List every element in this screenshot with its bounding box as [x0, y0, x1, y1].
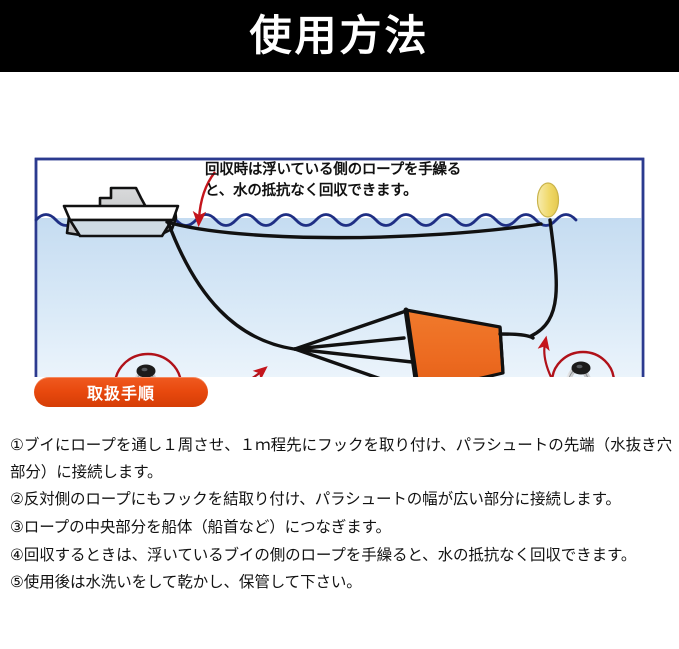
- callout-line-1: 回収時は浮いている側のロープを手繰る: [205, 160, 515, 181]
- diagram-canvas: [0, 72, 679, 377]
- step-item-5: ⑤使用後は水洗いをして乾かし、保管して下さい。: [10, 569, 672, 596]
- diagram-callout-text: 回収時は浮いている側のロープを手繰る と、水の抵抗なく回収できます。: [205, 160, 515, 202]
- section-badge-row: 取扱手順: [0, 377, 679, 419]
- buoy-icon: [538, 183, 559, 217]
- page-title: 使用方法: [249, 15, 429, 57]
- step-item-3: ③ロープの中央部分を船体（船首など）につなぎます。: [10, 514, 672, 541]
- procedure-badge: 取扱手順: [34, 377, 208, 407]
- step-item-2: ②反対側のロープにもフックを結取り付け、パラシュートの幅が広い部分に接続します。: [10, 486, 672, 513]
- callout-line-2: と、水の抵抗なく回収できます。: [205, 181, 515, 202]
- step-item-1: ①ブイにロープを通し１周させ、１ｍ程先にフックを取り付け、パラシュートの先端（水…: [10, 432, 672, 485]
- procedure-steps-list: ①ブイにロープを通し１周させ、１ｍ程先にフックを取り付け、パラシュートの先端（水…: [10, 432, 672, 597]
- step-item-4: ④回収するときは、浮いているブイの側のロープを手繰ると、水の抵抗なく回収できます…: [10, 542, 672, 569]
- illustration-diagram: 回収時は浮いている側のロープを手繰る と、水の抵抗なく回収できます。: [0, 72, 679, 377]
- page-header: 使用方法: [0, 0, 679, 72]
